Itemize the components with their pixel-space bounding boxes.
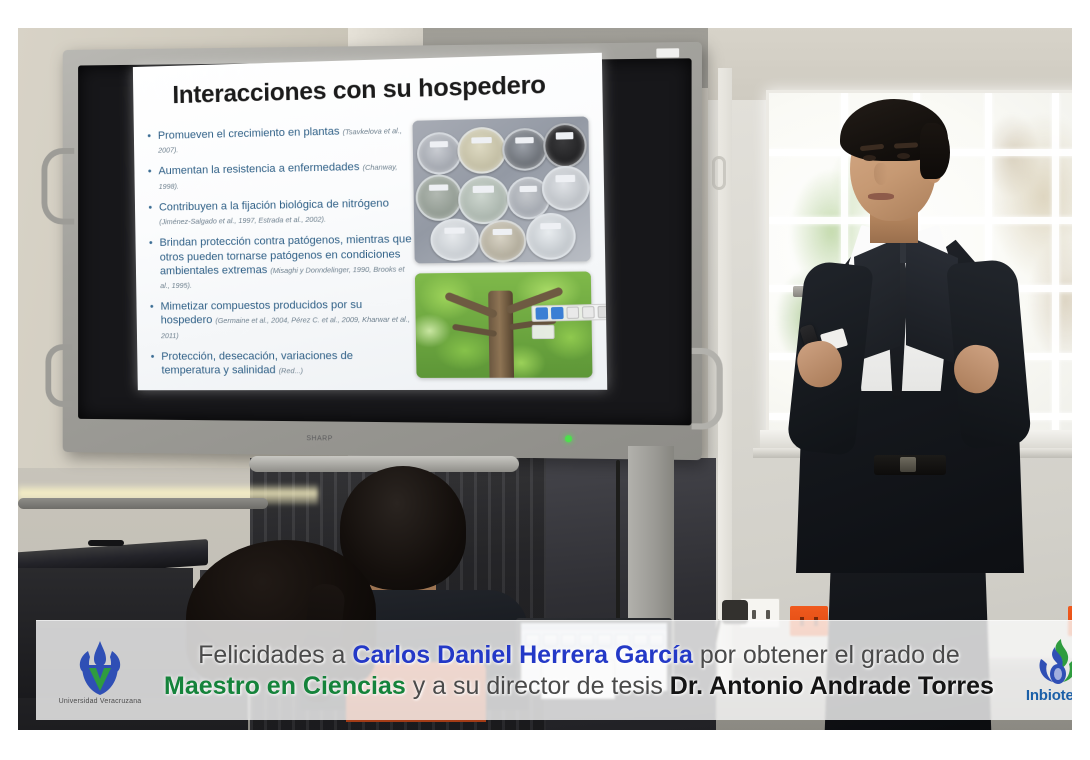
- door-handle-recess: [712, 156, 726, 190]
- presenter-hair-side: [920, 123, 950, 179]
- bullet-text: Promueven el crecimiento en plantas: [158, 126, 343, 142]
- board-handle-right[interactable]: [692, 348, 723, 430]
- bullet-dot: •: [150, 300, 161, 342]
- bullet-text-wrap: Protección, desecación, variaciones de t…: [161, 349, 414, 378]
- bullet-text-wrap: Mimetizar compuestos producidos por su h…: [160, 298, 414, 342]
- dish-label: [429, 184, 449, 191]
- uv-logo-caption: Universidad Veracruzana: [59, 698, 142, 705]
- dish-label: [473, 185, 495, 193]
- list-item: • Aumentan la resistencia a enfermedades…: [148, 159, 412, 193]
- presenter-in-dark-suit: [778, 83, 1072, 693]
- bullet-text-wrap: Promueven el crecimiento en plantas (Tsa…: [158, 123, 411, 157]
- desk-microphone: [88, 540, 124, 546]
- advisor-name: Dr. Antonio Andrade Torres: [670, 672, 994, 700]
- power-led-indicator: [565, 435, 572, 442]
- degree-name: Maestro en Ciencias: [164, 672, 406, 700]
- petri-dishes-photo: [412, 116, 590, 263]
- slide-bullet-list: • Promueven el crecimiento en plantas (T…: [147, 123, 414, 386]
- list-item: • Protección, desecación, variaciones de…: [151, 349, 415, 378]
- dish-label: [555, 175, 575, 182]
- dish-label: [515, 137, 534, 144]
- congratulations-banner: Universidad Veracruzana Felicidades a Ca…: [36, 620, 1072, 720]
- list-item: • Contribuyen a la fijación biológica de…: [148, 196, 412, 229]
- bullet-citation: (Jiménez-Salgado et al., 1997, Estrada e…: [159, 215, 326, 227]
- dish-label: [471, 137, 492, 144]
- dish-label: [444, 227, 465, 233]
- bullet-text-wrap: Aumentan la resistencia a enfermedades (…: [158, 159, 411, 192]
- bullet-text: Aumentan la resistencia a enfermedades: [158, 161, 362, 177]
- dish-label: [540, 222, 561, 229]
- slide-title: Interacciones con su hospedero: [160, 70, 559, 110]
- graduate-name: Carlos Daniel Herrera García: [352, 641, 692, 669]
- dish-label: [519, 186, 537, 193]
- bullet-text: Protección, desecación, variaciones de t…: [161, 350, 353, 377]
- wall-rail: [18, 498, 268, 509]
- bullet-text: Contribuyen a la fijación biológica de n…: [159, 197, 389, 213]
- inbioteca-logo-caption: Inbioteca: [1026, 687, 1072, 704]
- display-brand-label: SHARP: [306, 435, 332, 442]
- eye-left: [863, 155, 876, 161]
- uv-fleur-de-lis-icon: [68, 639, 132, 697]
- bullet-dot: •: [148, 165, 159, 193]
- bullet-dot: •: [147, 129, 158, 157]
- previous-slide-icon[interactable]: [535, 307, 548, 319]
- event-photograph: SHARP Interacciones con su hospedero • P…: [18, 28, 1072, 730]
- dish-label: [493, 229, 513, 235]
- inbioteca-flame-icon: [1031, 637, 1072, 689]
- mouth: [868, 193, 894, 200]
- menu-icon[interactable]: [597, 306, 607, 319]
- inbioteca-logo: Inbioteca: [994, 637, 1072, 704]
- tree-canopy-photo: [415, 271, 593, 377]
- bullet-citation: (Red...): [279, 366, 303, 375]
- belt-buckle: [900, 457, 916, 472]
- board-handle-left-bottom[interactable]: [45, 344, 72, 407]
- board-handle-left-top[interactable]: [42, 148, 75, 225]
- nose: [874, 163, 888, 185]
- universidad-veracruzana-logo: Universidad Veracruzana: [36, 637, 164, 705]
- banner-message: Felicidades a Carlos Daniel Herrera Garc…: [164, 640, 994, 701]
- page-root: SHARP Interacciones con su hospedero • P…: [0, 0, 1090, 760]
- banner-line-2: Maestro en Ciencias y a su director de t…: [164, 671, 994, 702]
- bullet-dot: •: [151, 350, 162, 378]
- banner-line-1: Felicidades a Carlos Daniel Herrera Garc…: [164, 640, 994, 671]
- presentation-toolbar[interactable]: [531, 303, 607, 322]
- list-item: • Mimetizar compuestos producidos por su…: [150, 298, 414, 342]
- dish-label: [430, 141, 449, 148]
- bullet-text-wrap: Contribuyen a la fijación biológica de n…: [159, 196, 412, 229]
- presentation-toolbar-secondary[interactable]: [532, 325, 555, 339]
- pen-tool-icon[interactable]: [566, 306, 579, 319]
- highlighter-icon[interactable]: [582, 306, 595, 319]
- banner-line1-prefix: Felicidades a: [198, 641, 352, 669]
- dish-label: [556, 132, 574, 139]
- bullet-text-wrap: Brindan protección contra patógenos, mie…: [159, 233, 413, 293]
- presentation-slide: Interacciones con su hospedero • Promuev…: [133, 53, 607, 390]
- eye-right: [897, 153, 910, 159]
- next-slide-icon[interactable]: [551, 307, 564, 320]
- banner-line1-suffix: por obtener el grado de: [693, 641, 960, 669]
- bullet-dot: •: [148, 201, 159, 229]
- list-item: • Brindan protección contra patógenos, m…: [149, 233, 413, 293]
- banner-line2-middle: y a su director de tesis: [406, 672, 670, 700]
- list-item: • Promueven el crecimiento en plantas (T…: [147, 123, 411, 157]
- device-label: [656, 48, 679, 57]
